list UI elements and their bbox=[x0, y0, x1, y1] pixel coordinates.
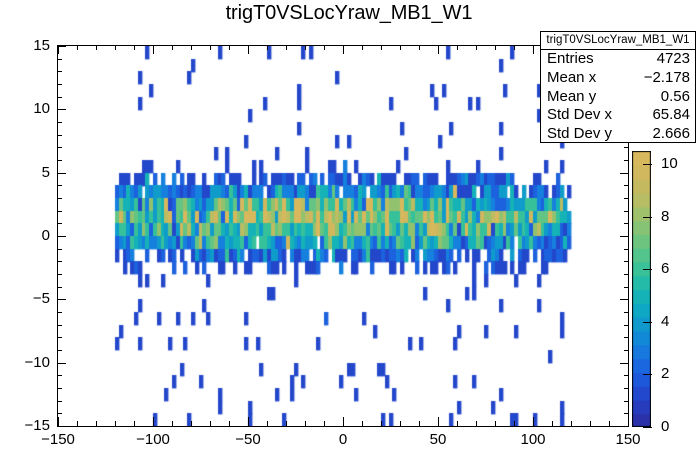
stats-row-key: Std Dev x bbox=[547, 106, 612, 125]
root-canvas: trigT0VSLocYraw_MB1_W1 −150−100−50050100… bbox=[0, 0, 698, 476]
x-tick-label: −50 bbox=[218, 431, 278, 448]
color-scale-tick bbox=[643, 322, 652, 323]
x-minor-tick bbox=[324, 421, 325, 426]
x-minor-tick-top bbox=[172, 45, 173, 50]
stats-row: Mean x−2.178 bbox=[541, 69, 695, 88]
y-minor-tick bbox=[57, 413, 62, 414]
y-tick-label: −5 bbox=[6, 290, 50, 307]
y-minor-tick bbox=[57, 274, 62, 275]
y-minor-tick-right bbox=[624, 388, 629, 389]
color-scale-tick bbox=[643, 164, 652, 165]
x-minor-tick bbox=[191, 421, 192, 426]
y-minor-tick bbox=[57, 401, 62, 402]
x-minor-tick-top bbox=[362, 45, 363, 50]
color-scale-tick bbox=[643, 374, 652, 375]
x-minor-tick bbox=[210, 421, 211, 426]
stats-row-key: Mean x bbox=[547, 69, 596, 88]
x-minor-tick-top bbox=[381, 45, 382, 50]
y-major-tick bbox=[57, 426, 66, 427]
y-major-tick bbox=[57, 299, 66, 300]
y-tick-label: −15 bbox=[6, 417, 50, 434]
x-tick-label: 100 bbox=[503, 431, 563, 448]
stats-row: Mean y0.56 bbox=[541, 88, 695, 107]
color-scale-tick-label: 8 bbox=[661, 208, 669, 225]
x-minor-tick bbox=[172, 421, 173, 426]
y-minor-tick-right bbox=[624, 350, 629, 351]
x-major-tick bbox=[438, 417, 439, 426]
y-major-tick-right bbox=[620, 236, 629, 237]
stats-row-value: −2.178 bbox=[644, 69, 690, 88]
x-minor-tick bbox=[77, 421, 78, 426]
x-major-tick-top bbox=[438, 45, 439, 54]
y-minor-tick bbox=[57, 249, 62, 250]
y-major-tick bbox=[57, 46, 66, 47]
y-major-tick-right bbox=[620, 299, 629, 300]
y-major-tick bbox=[57, 173, 66, 174]
stats-row-value: 65.84 bbox=[652, 106, 690, 125]
x-minor-tick bbox=[400, 421, 401, 426]
x-minor-tick-top bbox=[286, 45, 287, 50]
y-minor-tick-right bbox=[624, 249, 629, 250]
y-minor-tick-right bbox=[624, 413, 629, 414]
x-major-tick bbox=[533, 417, 534, 426]
y-minor-tick-right bbox=[624, 147, 629, 148]
stats-row-value: 2.666 bbox=[652, 125, 690, 144]
y-minor-tick bbox=[57, 287, 62, 288]
x-minor-tick-top bbox=[77, 45, 78, 50]
x-minor-tick-top bbox=[514, 45, 515, 50]
x-minor-tick bbox=[495, 421, 496, 426]
x-minor-tick bbox=[609, 421, 610, 426]
y-minor-tick-right bbox=[624, 287, 629, 288]
stats-row: Std Dev x65.84 bbox=[541, 106, 695, 125]
color-scale-tick bbox=[643, 427, 652, 428]
stats-row-key: Entries bbox=[547, 50, 594, 69]
y-major-tick bbox=[57, 236, 66, 237]
x-minor-tick bbox=[419, 421, 420, 426]
x-minor-tick bbox=[571, 421, 572, 426]
y-minor-tick-right bbox=[624, 312, 629, 313]
y-minor-tick bbox=[57, 97, 62, 98]
x-tick-label: −100 bbox=[123, 431, 183, 448]
y-minor-tick bbox=[57, 122, 62, 123]
x-major-tick bbox=[58, 417, 59, 426]
y-tick-label: 10 bbox=[6, 100, 50, 117]
y-minor-tick bbox=[57, 160, 62, 161]
x-minor-tick bbox=[96, 421, 97, 426]
y-minor-tick-right bbox=[624, 337, 629, 338]
x-minor-tick-top bbox=[419, 45, 420, 50]
x-minor-tick bbox=[115, 421, 116, 426]
y-minor-tick bbox=[57, 312, 62, 313]
y-major-tick-right bbox=[620, 363, 629, 364]
color-scale-canvas bbox=[632, 151, 651, 427]
page-title: trigT0VSLocYraw_MB1_W1 bbox=[0, 2, 698, 25]
x-minor-tick-top bbox=[191, 45, 192, 50]
y-minor-tick bbox=[57, 375, 62, 376]
y-minor-tick bbox=[57, 337, 62, 338]
y-minor-tick-right bbox=[624, 198, 629, 199]
y-minor-tick-right bbox=[624, 223, 629, 224]
x-major-tick bbox=[628, 417, 629, 426]
y-minor-tick-right bbox=[624, 274, 629, 275]
stats-box: trigT0VSLocYraw_MB1_W1 Entries4723Mean x… bbox=[540, 31, 696, 143]
x-major-tick bbox=[153, 417, 154, 426]
stats-row-key: Std Dev y bbox=[547, 125, 612, 144]
y-minor-tick bbox=[57, 350, 62, 351]
stats-rows: Entries4723Mean x−2.178Mean y0.56Std Dev… bbox=[541, 50, 695, 144]
x-tick-label: 150 bbox=[598, 431, 658, 448]
x-minor-tick-top bbox=[115, 45, 116, 50]
x-minor-tick-top bbox=[457, 45, 458, 50]
x-minor-tick bbox=[476, 421, 477, 426]
y-minor-tick bbox=[57, 388, 62, 389]
x-major-tick-top bbox=[533, 45, 534, 54]
x-minor-tick bbox=[457, 421, 458, 426]
x-major-tick-top bbox=[248, 45, 249, 54]
y-minor-tick bbox=[57, 185, 62, 186]
y-tick-label: 0 bbox=[6, 227, 50, 244]
color-scale-bar bbox=[632, 151, 651, 427]
x-minor-tick bbox=[286, 421, 287, 426]
color-scale-tick-label: 6 bbox=[661, 260, 669, 277]
color-scale-tick-label: 4 bbox=[661, 313, 669, 330]
y-minor-tick-right bbox=[624, 185, 629, 186]
x-minor-tick-top bbox=[400, 45, 401, 50]
y-minor-tick-right bbox=[624, 160, 629, 161]
y-major-tick-right bbox=[620, 426, 629, 427]
x-minor-tick-top bbox=[495, 45, 496, 50]
y-minor-tick bbox=[57, 261, 62, 262]
stats-row: Entries4723 bbox=[541, 50, 695, 69]
stats-row-key: Mean y bbox=[547, 88, 596, 107]
y-minor-tick bbox=[57, 84, 62, 85]
color-scale-tick-label: 10 bbox=[661, 155, 678, 172]
x-major-tick bbox=[343, 417, 344, 426]
x-minor-tick-top bbox=[476, 45, 477, 50]
x-minor-tick-top bbox=[134, 45, 135, 50]
y-minor-tick bbox=[57, 211, 62, 212]
x-tick-label: 0 bbox=[313, 431, 373, 448]
color-scale-tick-label: 0 bbox=[661, 418, 669, 435]
x-minor-tick-top bbox=[210, 45, 211, 50]
y-tick-label: 5 bbox=[6, 164, 50, 181]
stats-row: Std Dev y2.666 bbox=[541, 125, 695, 144]
x-minor-tick bbox=[552, 421, 553, 426]
x-major-tick-top bbox=[153, 45, 154, 54]
y-tick-label: −10 bbox=[6, 354, 50, 371]
y-tick-label: 15 bbox=[6, 37, 50, 54]
y-minor-tick-right bbox=[624, 325, 629, 326]
y-minor-tick-right bbox=[624, 375, 629, 376]
x-minor-tick bbox=[514, 421, 515, 426]
stats-row-value: 0.56 bbox=[661, 88, 690, 107]
x-minor-tick-top bbox=[96, 45, 97, 50]
x-minor-tick-top bbox=[267, 45, 268, 50]
x-minor-tick-top bbox=[305, 45, 306, 50]
x-minor-tick bbox=[267, 421, 268, 426]
x-major-tick-top bbox=[343, 45, 344, 54]
y-minor-tick bbox=[57, 325, 62, 326]
x-minor-tick-top bbox=[229, 45, 230, 50]
x-minor-tick bbox=[134, 421, 135, 426]
x-minor-tick bbox=[381, 421, 382, 426]
y-minor-tick-right bbox=[624, 261, 629, 262]
stats-row-value: 4723 bbox=[657, 50, 690, 69]
y-major-tick bbox=[57, 363, 66, 364]
y-minor-tick bbox=[57, 71, 62, 72]
y-minor-tick bbox=[57, 198, 62, 199]
y-minor-tick bbox=[57, 135, 62, 136]
y-minor-tick bbox=[57, 59, 62, 60]
x-minor-tick-top bbox=[324, 45, 325, 50]
x-minor-tick bbox=[362, 421, 363, 426]
x-minor-tick bbox=[305, 421, 306, 426]
color-scale-tick bbox=[643, 217, 652, 218]
y-minor-tick-right bbox=[624, 401, 629, 402]
y-major-tick-right bbox=[620, 173, 629, 174]
x-major-tick bbox=[248, 417, 249, 426]
color-scale-tick-label: 2 bbox=[661, 365, 669, 382]
y-minor-tick bbox=[57, 147, 62, 148]
stats-box-title: trigT0VSLocYraw_MB1_W1 bbox=[541, 32, 695, 50]
x-minor-tick bbox=[229, 421, 230, 426]
color-scale-tick bbox=[643, 269, 652, 270]
y-minor-tick bbox=[57, 223, 62, 224]
x-minor-tick bbox=[590, 421, 591, 426]
y-major-tick bbox=[57, 109, 66, 110]
y-minor-tick-right bbox=[624, 211, 629, 212]
x-tick-label: 50 bbox=[408, 431, 468, 448]
